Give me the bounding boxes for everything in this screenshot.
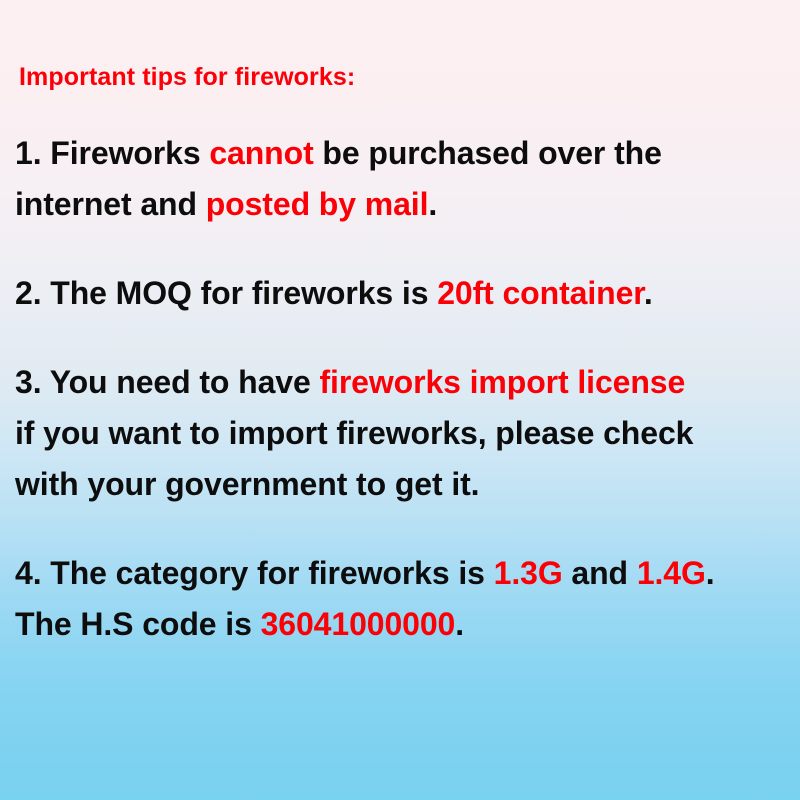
- tip-item-1: 1. Fireworks cannot be purchased over th…: [15, 128, 782, 230]
- page-title-text: Important tips for fireworks:: [19, 63, 355, 91]
- tip-4-line-1: 4. The category for fireworks is 1.3G an…: [15, 548, 782, 599]
- tip-2-highlight-moq: 20ft container: [437, 275, 644, 311]
- tip-1-highlight-cannot: cannot: [209, 135, 313, 171]
- tip-4-highlight-class-14g: 1.4G: [637, 555, 706, 591]
- tip-3-text-a: 3. You need to have: [15, 364, 319, 400]
- tip-item-3: 3. You need to have fireworks import lic…: [15, 357, 782, 510]
- tip-2-line-1: 2. The MOQ for fireworks is 20ft contain…: [15, 268, 782, 319]
- tip-1-text-f: .: [428, 186, 437, 222]
- tip-4-text-a: 4. The category for fireworks is: [15, 555, 494, 591]
- tip-4-text-f: The H.S code is: [15, 606, 261, 642]
- tip-1-text-c: be purchased over the: [314, 135, 662, 171]
- tip-4-line-2: The H.S code is 36041000000.: [15, 599, 782, 650]
- tip-3-line-1: 3. You need to have fireworks import lic…: [15, 357, 782, 408]
- tip-1-text-d: internet and: [15, 186, 206, 222]
- tip-item-4: 4. The category for fireworks is 1.3G an…: [15, 548, 782, 650]
- tip-item-2: 2. The MOQ for fireworks is 20ft contain…: [15, 268, 782, 319]
- tip-4-highlight-hs-code: 36041000000: [261, 606, 456, 642]
- tip-1-line-1: 1. Fireworks cannot be purchased over th…: [15, 128, 782, 179]
- tip-4-text-e: .: [706, 555, 715, 591]
- tip-1-line-2: internet and posted by mail.: [15, 179, 782, 230]
- tip-3-line-3: with your government to get it.: [15, 459, 782, 510]
- fireworks-tips-poster: Important tips for fireworks: 1. Firewor…: [0, 0, 800, 800]
- tip-4-text-h: .: [455, 606, 464, 642]
- tip-4-text-c: and: [563, 555, 637, 591]
- tip-3-highlight-license: fireworks import license: [319, 364, 685, 400]
- tip-2-text-a: 2. The MOQ for fireworks is: [15, 275, 437, 311]
- tip-1-text-a: 1. Fireworks: [15, 135, 209, 171]
- tip-2-text-c: .: [644, 275, 653, 311]
- tip-3-line-2: if you want to import fireworks, please …: [15, 408, 782, 459]
- tip-1-highlight-posted-by-mail: posted by mail: [206, 186, 429, 222]
- page-title: Important tips for fireworks:: [19, 60, 782, 94]
- tip-4-highlight-class-13g: 1.3G: [494, 555, 563, 591]
